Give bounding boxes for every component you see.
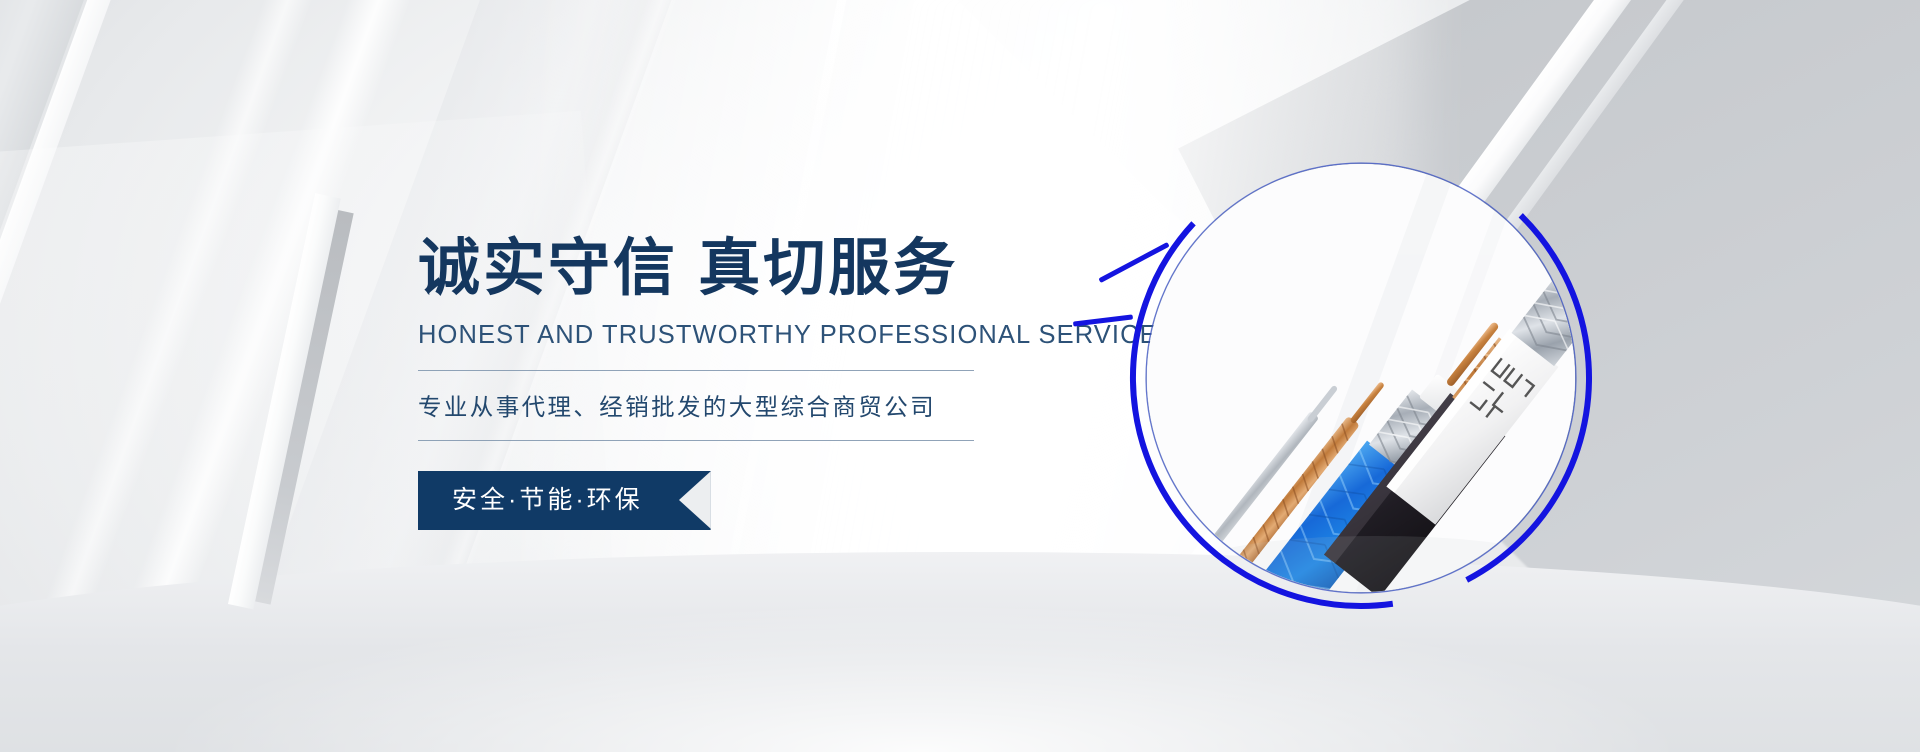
badge-container: 安全·节能·环保: [418, 471, 1038, 530]
background-floor-shine: [154, 602, 1690, 752]
badge-notch-icon: [679, 471, 711, 529]
hero-text-block: 诚实守信 真切服务 HONEST AND TRUSTWORTHY PROFESS…: [418, 238, 1038, 530]
page-title: 诚实守信 真切服务: [418, 238, 1038, 300]
status-badge: 安全·节能·环保: [418, 471, 711, 530]
decorative-ring: [1125, 142, 1597, 614]
subtitle-english: HONEST AND TRUSTWORTHY PROFESSIONAL SERV…: [418, 321, 1038, 350]
subtitle-chinese: 专业从事代理、经销批发的大型综合商贸公司: [418, 388, 1038, 422]
divider-top: [418, 370, 974, 371]
hero-banner: 诚实守信 真切服务 HONEST AND TRUSTWORTHY PROFESS…: [0, 0, 1920, 752]
badge-label: 安全·节能·环保: [452, 486, 643, 514]
divider-bottom: [418, 440, 974, 441]
product-image-region: [1125, 142, 1597, 614]
